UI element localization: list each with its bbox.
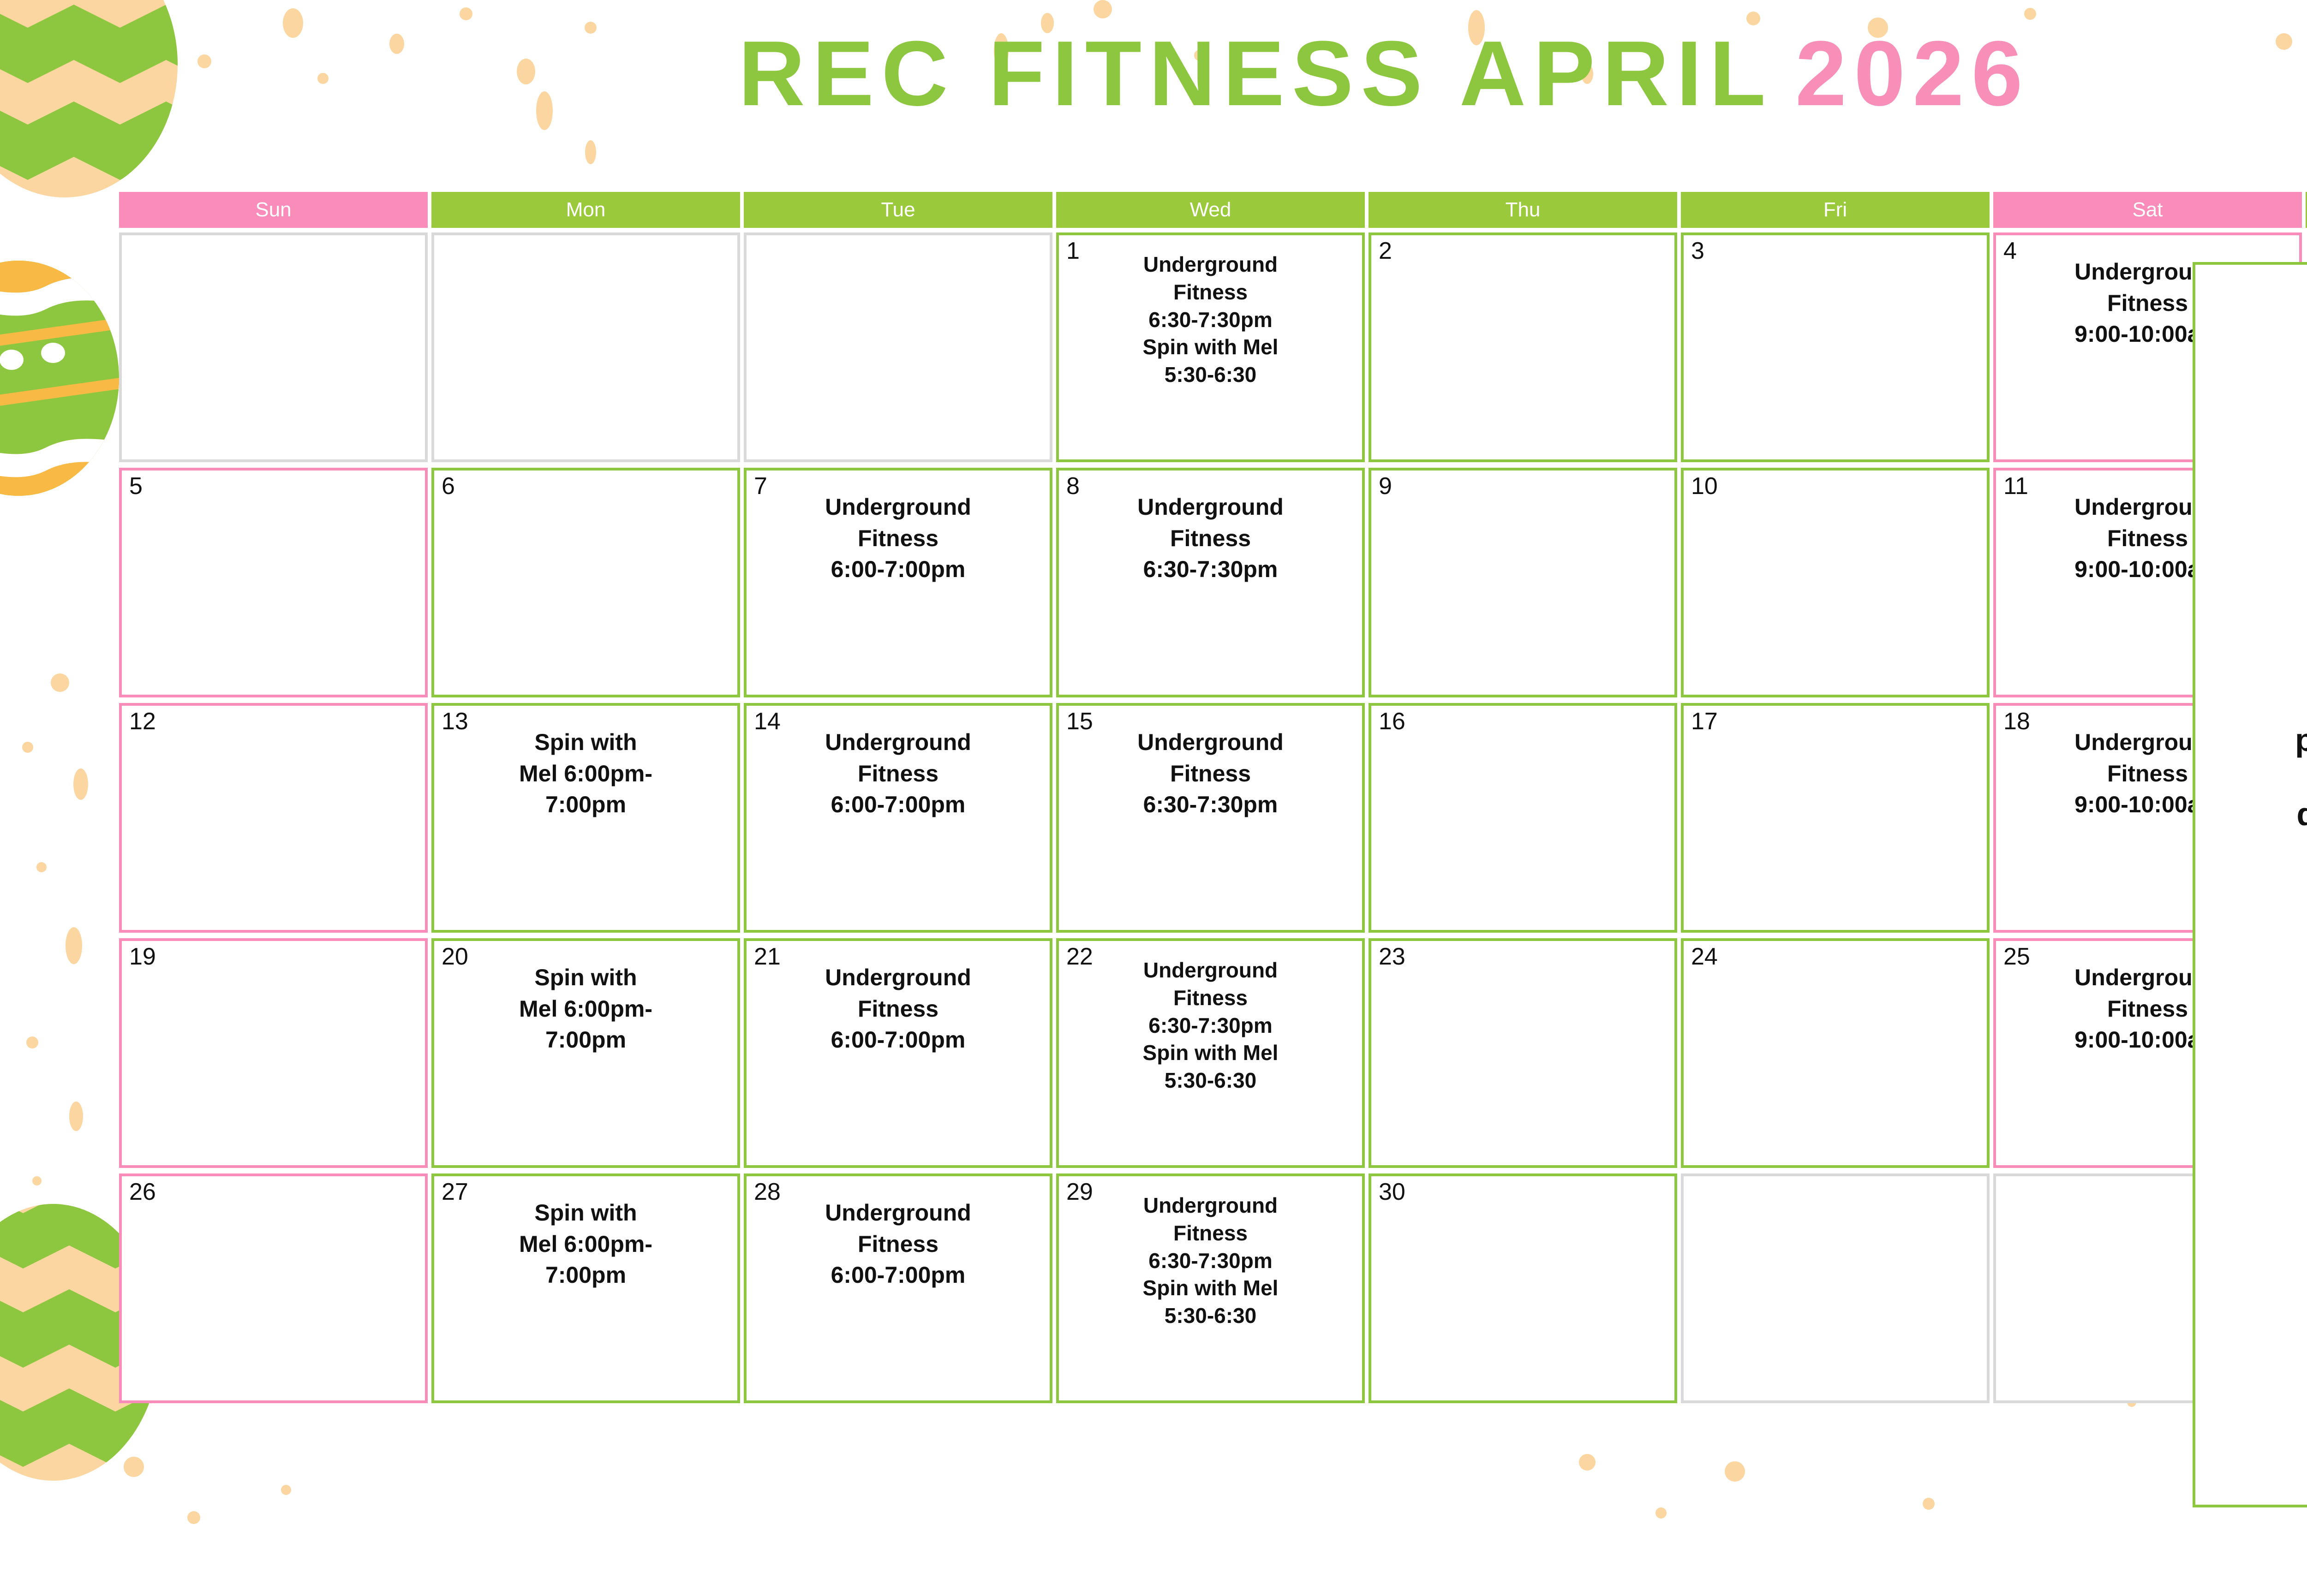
calendar-week-row: 1213Spin withMel 6:00pm-7:00pm14Undergro… bbox=[119, 703, 2307, 933]
day-event-line: Fitness bbox=[1067, 279, 1354, 306]
notes-line: membership or bbox=[2207, 684, 2307, 721]
day-event-line: Spin with bbox=[442, 962, 729, 994]
day-events: UndergroundFitness6:30-7:30pm bbox=[1059, 470, 1362, 590]
calendar-day-cell-empty[interactable] bbox=[1681, 1173, 1990, 1403]
easter-egg-striped-left bbox=[0, 258, 129, 498]
calendar-day-cell-17[interactable]: 17 bbox=[1681, 703, 1990, 933]
day-event-line: Underground bbox=[1067, 492, 1354, 523]
day-event-line: Underground bbox=[1067, 251, 1354, 279]
day-events: UndergroundFitness6:00-7:00pm bbox=[747, 941, 1050, 1060]
day-event-line: Underground bbox=[755, 727, 1041, 758]
calendar-week-row: 2627Spin withMel 6:00pm-7:00pm28Undergro… bbox=[119, 1173, 2307, 1403]
day-number: 19 bbox=[129, 944, 156, 970]
day-event-line: Fitness bbox=[1067, 984, 1354, 1012]
weekday-header-fri: Fri bbox=[1681, 192, 1990, 228]
day-event-line: Fitness bbox=[1067, 758, 1354, 790]
day-number: 15 bbox=[1066, 709, 1093, 735]
day-event-line: Underground bbox=[1067, 957, 1354, 984]
calendar-day-cell-12[interactable]: 12 bbox=[119, 703, 428, 933]
day-events: UndergroundFitness6:00-7:00pm bbox=[747, 470, 1050, 590]
day-event-line: 6:30-7:30pm bbox=[1067, 306, 1354, 334]
day-event-line: 7:00pm bbox=[442, 1260, 729, 1291]
day-events: UndergroundFitness6:00-7:00pm bbox=[747, 1176, 1050, 1296]
day-event-line: 6:30-7:30pm bbox=[1067, 789, 1354, 821]
calendar-day-cell-16[interactable]: 16 bbox=[1369, 703, 1677, 933]
calendar-day-cell-21[interactable]: 21UndergroundFitness6:00-7:00pm bbox=[744, 938, 1052, 1168]
notes-line: Adult workout bbox=[2207, 283, 2307, 321]
notes-line: punch card? Visit bbox=[2207, 721, 2307, 759]
day-number: 18 bbox=[2003, 709, 2030, 735]
day-number: 6 bbox=[442, 473, 455, 500]
day-event-line: Underground bbox=[1067, 1192, 1354, 1220]
calendar-grid: SunMonTueWedThuFriSatNotes 1UndergroundF… bbox=[119, 192, 2307, 1409]
calendar-week-row: 1920Spin withMel 6:00pm-7:00pm21Undergro… bbox=[119, 938, 2307, 1168]
day-event-line: Underground bbox=[1067, 727, 1354, 758]
day-events: Spin withMel 6:00pm-7:00pm bbox=[434, 941, 737, 1060]
calendar-day-cell-30[interactable]: 30 bbox=[1369, 1173, 1677, 1403]
day-event-line: 6:30-7:30pm bbox=[1067, 1247, 1354, 1275]
day-events: UndergroundFitness6:30-7:30pm bbox=[1059, 706, 1362, 825]
day-event-line: 6:30-7:30pm bbox=[1067, 554, 1354, 585]
day-number: 17 bbox=[1691, 709, 1718, 735]
day-event-line: 6:00-7:00pm bbox=[755, 1260, 1041, 1291]
page-title: REC FITNESS APRIL2026 bbox=[0, 28, 2307, 120]
day-number: 11 bbox=[2003, 473, 2028, 500]
day-number: 5 bbox=[129, 473, 143, 500]
day-event-line: 5:30-6:30 bbox=[1067, 1302, 1354, 1330]
calendar-week-row: 567UndergroundFitness6:00-7:00pm8Undergr… bbox=[119, 468, 2307, 697]
calendar-day-cell-9[interactable]: 9 bbox=[1369, 468, 1677, 697]
day-event-line: 5:30-6:30 bbox=[1067, 361, 1354, 389]
day-number: 10 bbox=[1691, 473, 1718, 500]
calendar-day-cell-1[interactable]: 1UndergroundFitness6:30-7:30pmSpin with … bbox=[1056, 232, 1365, 462]
weekday-header-wed: Wed bbox=[1056, 192, 1365, 228]
day-number: 22 bbox=[1066, 944, 1093, 970]
day-number: 4 bbox=[2003, 238, 2017, 264]
day-events: Spin withMel 6:00pm-7:00pm bbox=[434, 1176, 737, 1296]
weekday-header-tue: Tue bbox=[744, 192, 1052, 228]
notes-line: the REC Office bbox=[2207, 758, 2307, 796]
day-event-line: Spin with Mel bbox=[1067, 1039, 1354, 1067]
day-event-line: Mel 6:00pm- bbox=[442, 1229, 729, 1260]
day-number: 3 bbox=[1691, 238, 1704, 264]
day-event-line: 6:00-7:00pm bbox=[755, 554, 1041, 585]
day-event-line: Spin with Mel bbox=[1067, 333, 1354, 361]
calendar-day-cell-14[interactable]: 14UndergroundFitness6:00-7:00pm bbox=[744, 703, 1052, 933]
day-events: UndergroundFitness6:30-7:30pmSpin with M… bbox=[1059, 1176, 1362, 1334]
day-event-line: Fitness bbox=[755, 994, 1041, 1025]
day-number: 2 bbox=[1379, 238, 1392, 264]
day-event-line: Fitness bbox=[755, 1229, 1041, 1260]
day-number: 7 bbox=[754, 473, 767, 500]
day-number: 28 bbox=[754, 1179, 781, 1205]
weekday-header-sun: Sun bbox=[119, 192, 428, 228]
calendar-day-cell-15[interactable]: 15UndergroundFitness6:30-7:30pm bbox=[1056, 703, 1365, 933]
day-number: 26 bbox=[129, 1179, 156, 1205]
calendar-day-cell-22[interactable]: 22UndergroundFitness6:30-7:30pmSpin with… bbox=[1056, 938, 1365, 1168]
calendar-day-cell-5[interactable]: 5 bbox=[119, 468, 428, 697]
day-event-line: 6:00-7:00pm bbox=[755, 789, 1041, 821]
title-main-text: REC FITNESS APRIL bbox=[738, 22, 1773, 125]
calendar-day-cell-10[interactable]: 10 bbox=[1681, 468, 1990, 697]
notes-line: fitness class bbox=[2207, 647, 2307, 685]
calendar-day-cell-2[interactable]: 2 bbox=[1369, 232, 1677, 462]
notes-paragraph-gap bbox=[2207, 580, 2307, 610]
day-number: 23 bbox=[1379, 944, 1405, 970]
calendar-day-cell-20[interactable]: 20Spin withMel 6:00pm-7:00pm bbox=[431, 938, 740, 1168]
calendar-day-cell-empty[interactable] bbox=[431, 232, 740, 462]
notes-line: Looking for a bbox=[2207, 610, 2307, 647]
notes-panel: Adult workoutclassesDrop-in ratesREC Mem… bbox=[2193, 262, 2307, 1507]
day-event-line: Spin with bbox=[442, 1197, 729, 1229]
calendar-day-cell-7[interactable]: 7UndergroundFitness6:00-7:00pm bbox=[744, 468, 1052, 697]
day-event-line: Spin with bbox=[442, 727, 729, 758]
day-event-line: Underground bbox=[755, 962, 1041, 994]
notes-line: Non REC: bbox=[2207, 469, 2307, 506]
calendar-week-row: 1UndergroundFitness6:30-7:30pmSpin with … bbox=[119, 232, 2307, 462]
day-event-line: Mel 6:00pm- bbox=[442, 758, 729, 790]
notes-line: included bbox=[2207, 543, 2307, 581]
day-events: UndergroundFitness6:30-7:30pmSpin with M… bbox=[1059, 235, 1362, 393]
calendar-day-cell-3[interactable]: 3 bbox=[1681, 232, 1990, 462]
calendar-day-cell-8[interactable]: 8UndergroundFitness6:30-7:30pm bbox=[1056, 468, 1365, 697]
notes-line: classes bbox=[2207, 321, 2307, 358]
day-number: 25 bbox=[2003, 944, 2030, 970]
day-number: 30 bbox=[1379, 1179, 1405, 1205]
day-number: 21 bbox=[754, 944, 781, 970]
day-events: Spin withMel 6:00pm-7:00pm bbox=[434, 706, 737, 825]
calendar-day-cell-19[interactable]: 19 bbox=[119, 938, 428, 1168]
day-event-line: 5:30-6:30 bbox=[1067, 1067, 1354, 1095]
weekday-header-row: SunMonTueWedThuFriSatNotes bbox=[119, 192, 2307, 228]
day-number: 27 bbox=[442, 1179, 468, 1205]
notes-line: during open hour bbox=[2207, 796, 2307, 833]
notes-line: Drop-in rates bbox=[2207, 357, 2307, 395]
day-events: UndergroundFitness6:30-7:30pmSpin with M… bbox=[1059, 941, 1362, 1099]
day-event-line: 7:00pm bbox=[442, 1024, 729, 1056]
weekday-header-sat: Sat bbox=[1993, 192, 2302, 228]
day-number: 13 bbox=[442, 709, 468, 735]
notes-line: $8.21 bbox=[2207, 432, 2307, 469]
calendar-day-cell-29[interactable]: 29UndergroundFitness6:30-7:30pmSpin with… bbox=[1056, 1173, 1365, 1403]
day-number: 14 bbox=[754, 709, 781, 735]
calendar-day-cell-empty[interactable] bbox=[744, 232, 1052, 462]
calendar-day-cell-empty[interactable] bbox=[119, 232, 428, 462]
calendar-day-cell-23[interactable]: 23 bbox=[1369, 938, 1677, 1168]
day-number: 9 bbox=[1379, 473, 1392, 500]
day-event-line: Underground bbox=[755, 492, 1041, 523]
day-event-line: Spin with Mel bbox=[1067, 1274, 1354, 1302]
day-event-line: Fitness bbox=[1067, 523, 1354, 554]
day-number: 16 bbox=[1379, 709, 1405, 735]
day-number: 12 bbox=[129, 709, 156, 735]
day-number: 8 bbox=[1066, 473, 1080, 500]
day-number: 29 bbox=[1066, 1179, 1093, 1205]
day-event-line: 7:00pm bbox=[442, 789, 729, 821]
notes-line: $10.71 Taxes bbox=[2207, 506, 2307, 543]
day-event-line: Mel 6:00pm- bbox=[442, 994, 729, 1025]
weekday-header-thu: Thu bbox=[1369, 192, 1677, 228]
day-event-line: Fitness bbox=[1067, 1220, 1354, 1247]
day-event-line: Underground bbox=[755, 1197, 1041, 1229]
calendar-day-cell-26[interactable]: 26 bbox=[119, 1173, 428, 1403]
calendar-day-cell-6[interactable]: 6 bbox=[431, 468, 740, 697]
day-event-line: Fitness bbox=[755, 758, 1041, 790]
day-number: 24 bbox=[1691, 944, 1718, 970]
day-number: 20 bbox=[442, 944, 468, 970]
calendar-day-cell-27[interactable]: 27Spin withMel 6:00pm-7:00pm bbox=[431, 1173, 740, 1403]
calendar-day-cell-13[interactable]: 13Spin withMel 6:00pm-7:00pm bbox=[431, 703, 740, 933]
day-event-line: 6:00-7:00pm bbox=[755, 1024, 1041, 1056]
calendar-day-cell-24[interactable]: 24 bbox=[1681, 938, 1990, 1168]
calendar-day-cell-28[interactable]: 28UndergroundFitness6:00-7:00pm bbox=[744, 1173, 1052, 1403]
day-event-line: 6:30-7:30pm bbox=[1067, 1012, 1354, 1040]
day-event-line: Fitness bbox=[755, 523, 1041, 554]
title-year-text: 2026 bbox=[1795, 22, 2030, 125]
day-events: UndergroundFitness6:00-7:00pm bbox=[747, 706, 1050, 825]
weekday-header-mon: Mon bbox=[431, 192, 740, 228]
day-number: 1 bbox=[1066, 238, 1080, 264]
notes-line: REC Member: bbox=[2207, 395, 2307, 432]
